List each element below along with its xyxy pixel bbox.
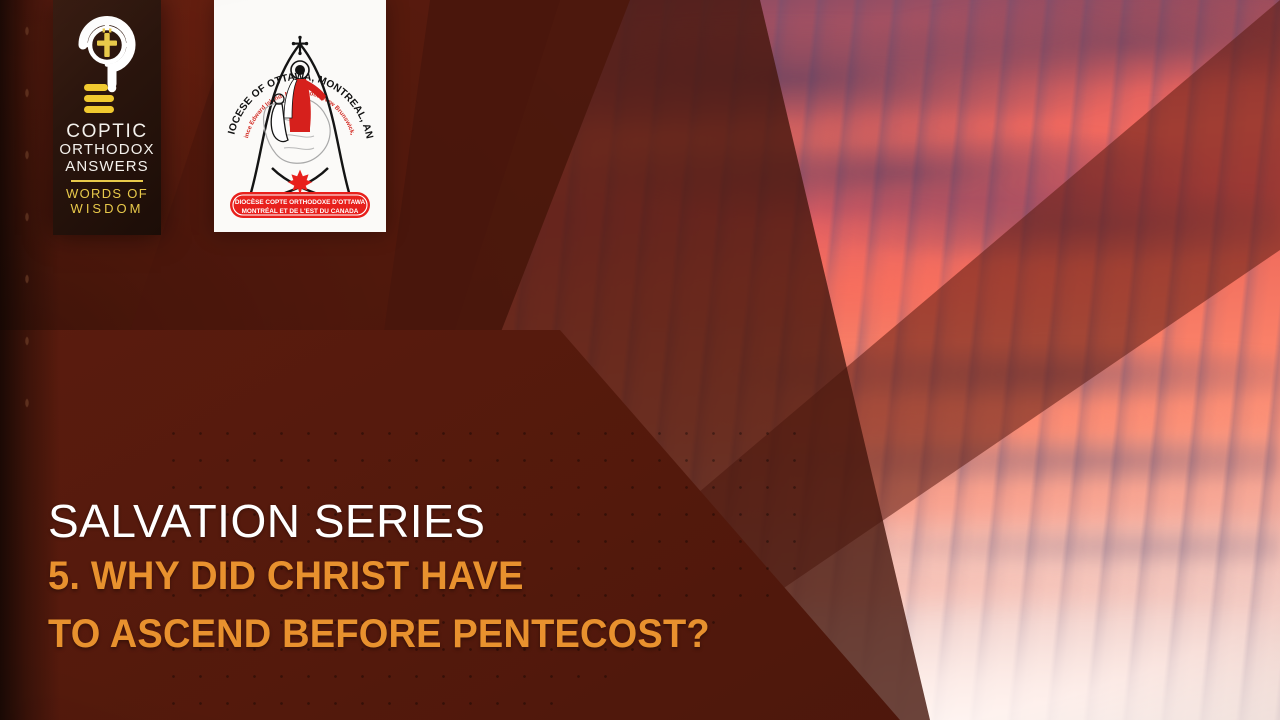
- left-edge-dots: [14, 0, 44, 440]
- series-title: SALVATION SERIES: [48, 495, 868, 547]
- title-block: SALVATION SERIES 5. WHY DID CHRIST HAVE …: [48, 495, 868, 663]
- logo-line-wisdom: WISDOM: [53, 201, 161, 216]
- logo-divider: [71, 180, 143, 182]
- question-title-line-1: 5. WHY DID CHRIST HAVE: [48, 547, 827, 605]
- logo-line-coptic: COPTIC: [53, 122, 161, 141]
- logo-line-orthodox: ORTHODOX: [53, 141, 161, 158]
- logo-line-words-of: WORDS OF: [53, 186, 161, 201]
- coptic-orthodox-answers-logo: COPTIC ORTHODOX ANSWERS WORDS OF WISDOM: [53, 0, 161, 235]
- logo-line-answers: ANSWERS: [53, 158, 161, 175]
- lightbulb-question-cross-icon: [68, 12, 146, 120]
- diocese-seal-logo: COPTIC ORTHODOX DIOCESE OF OTTAWA, MONTR…: [214, 0, 386, 232]
- diocese-seal-icon: COPTIC ORTHODOX DIOCESE OF OTTAWA, MONTR…: [214, 0, 386, 232]
- question-title-line-2: TO ASCEND BEFORE PENTECOST?: [48, 605, 827, 663]
- seal-banner-line1: DIOCÈSE COPTE ORTHODOXE D'OTTAWA: [235, 197, 366, 206]
- logo-wordmark: COPTIC ORTHODOX ANSWERS WORDS OF WISDOM: [53, 122, 161, 216]
- title-card: COPTIC ORTHODOX ANSWERS WORDS OF WISDOM …: [0, 0, 1280, 720]
- seal-banner-line2: MONTRÉAL ET DE L'EST DU CANADA: [242, 206, 359, 215]
